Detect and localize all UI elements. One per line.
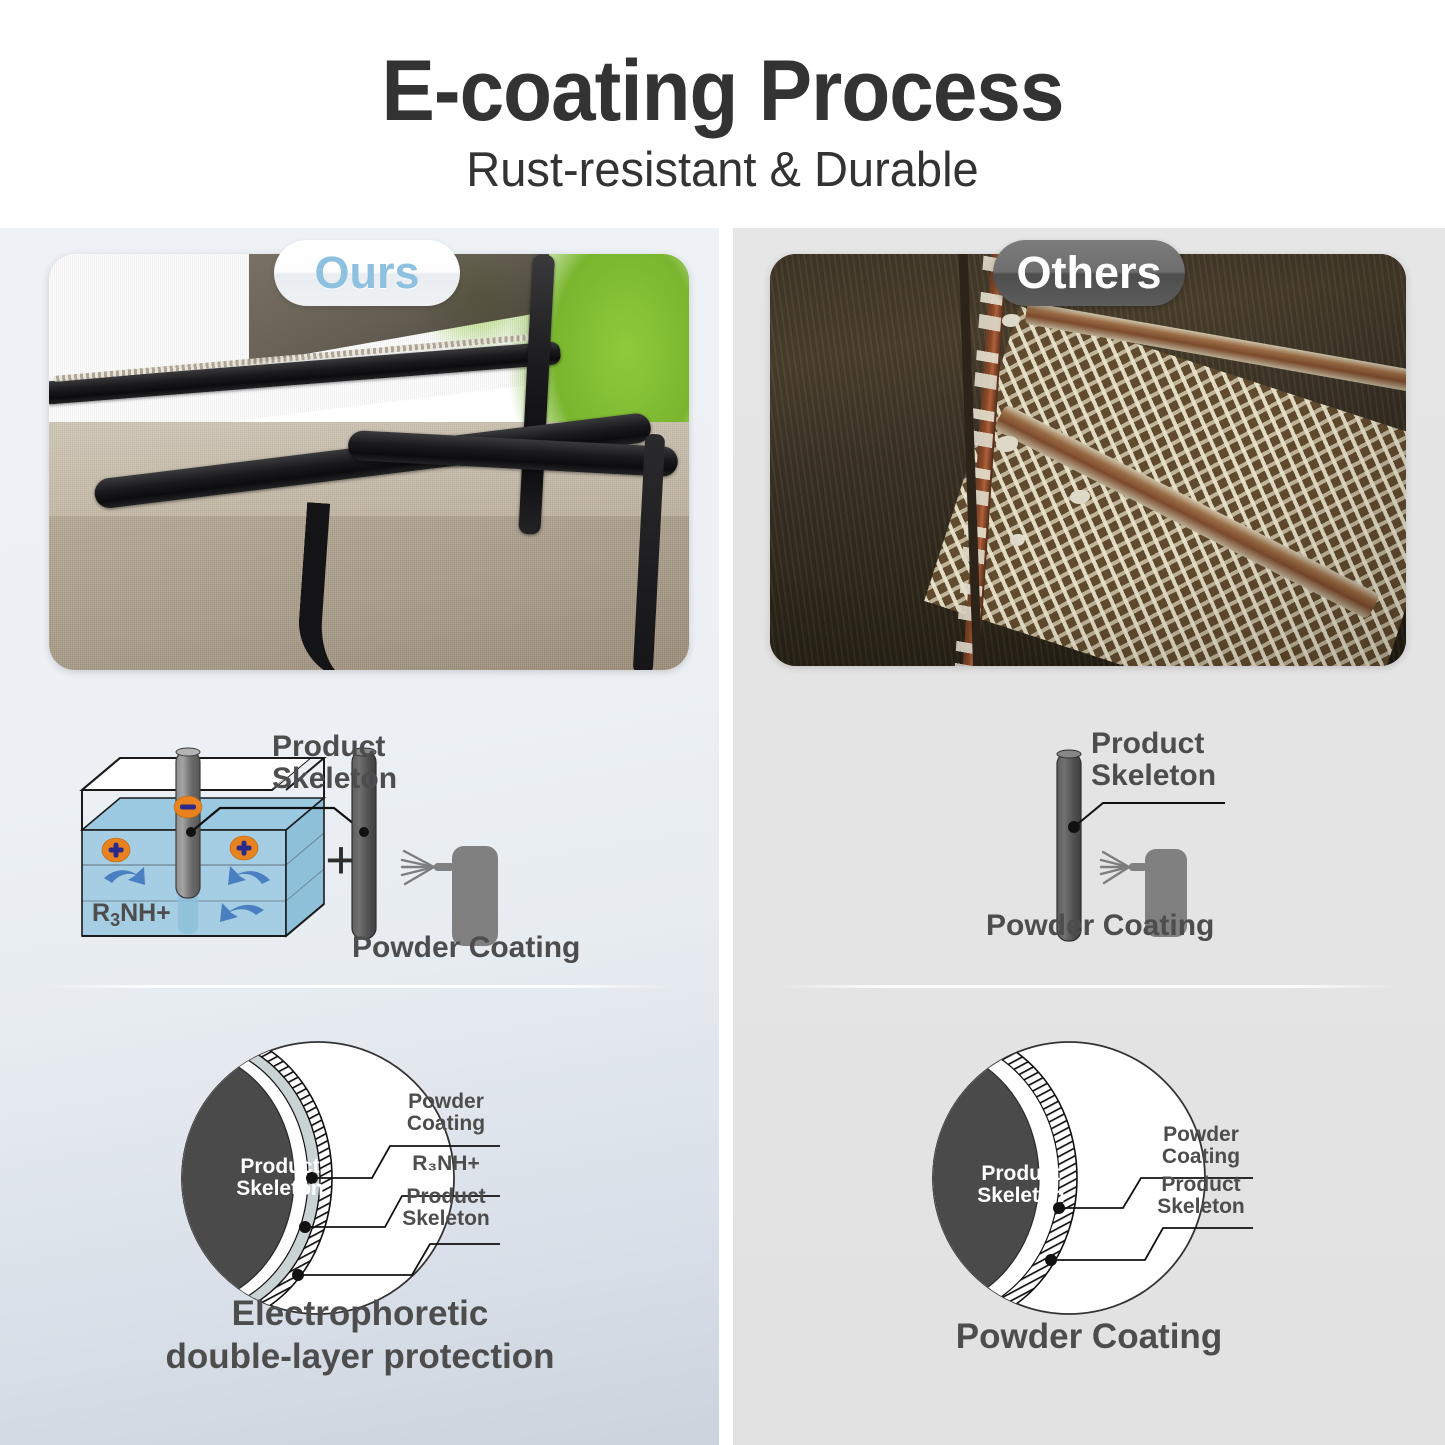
solution-label: R3NH+ [92,899,171,930]
badge-others-label: Others [1016,247,1161,299]
left-product-skeleton-label: Product Skeleton [272,731,397,795]
infographic-page: E-coating Process Rust-resistant & Durab… [0,0,1445,1445]
badge-others: Others [993,240,1185,306]
left-caption: Electrophoretic double-layer protection [20,1293,700,1378]
right-crosssection-core-label: Product Skeleton [951,1163,1091,1208]
charge-positive-right [230,836,258,860]
page-subtitle: Rust-resistant & Durable [29,142,1416,198]
right-callout-product-skeleton: Product Skeleton [1141,1174,1261,1219]
photo-others [770,254,1406,666]
left-callout-powder-coating: Powder Coating [386,1091,506,1136]
right-caption: Powder Coating [749,1316,1429,1359]
left-callout-r3nh: R₃NH+ [386,1153,506,1175]
left-powder-coating-label: Powder Coating [352,932,580,964]
page-title: E-coating Process [51,42,1395,141]
right-powder-coating-label: Powder Coating [986,910,1214,942]
left-crosssection-core-label: Product Skeleton [210,1156,350,1201]
right-callout-powder-coating: Powder Coating [1141,1124,1261,1169]
charge-positive-left [102,838,130,862]
photo-ours [49,254,689,670]
left-callout-product-skeleton: Product Skeleton [386,1186,506,1231]
right-product-skeleton-label: Product Skeleton [1091,728,1216,792]
badge-ours: Ours [274,240,460,306]
badge-ours-label: Ours [314,247,419,299]
header: E-coating Process Rust-resistant & Durab… [0,0,1445,228]
